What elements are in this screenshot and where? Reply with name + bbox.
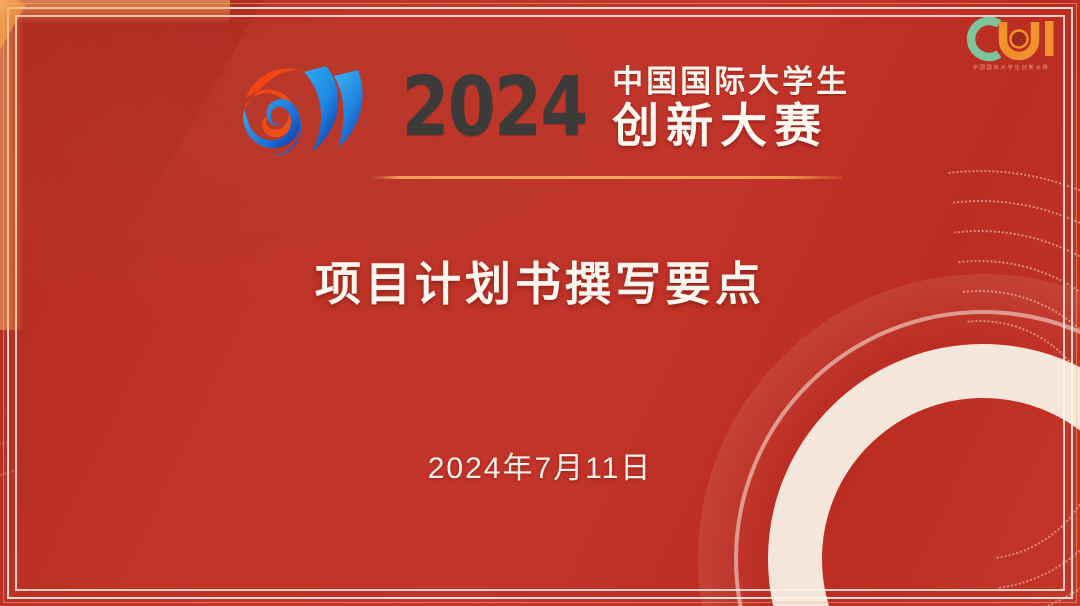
- slide-header: 2024 中国国际大学生 创新大赛: [0, 52, 1080, 164]
- cui-logo-mark: [959, 16, 1063, 62]
- cui-logo-subtitle: 中国国际大学生创新大赛: [972, 63, 1049, 71]
- presentation-slide: 2024 中国国际大学生 创新大赛 项目计划书撰写要点 2024年7月11日 中…: [0, 0, 1080, 606]
- competition-line-1: 中国国际大学生: [612, 64, 850, 101]
- competition-line-2: 创新大赛: [612, 101, 850, 152]
- cui-logo: 中国国际大学生创新大赛: [956, 16, 1066, 82]
- page-title: 项目计划书撰写要点: [0, 248, 1080, 314]
- header-inner: 2024 中国国际大学生 创新大赛: [230, 52, 850, 164]
- date-label: 2024年7月11日: [0, 443, 1080, 487]
- competition-name: 中国国际大学生 创新大赛: [612, 64, 850, 152]
- year-label: 2024: [401, 70, 586, 145]
- gold-divider-line: [372, 176, 842, 179]
- swirl-emblem-icon: [230, 52, 376, 164]
